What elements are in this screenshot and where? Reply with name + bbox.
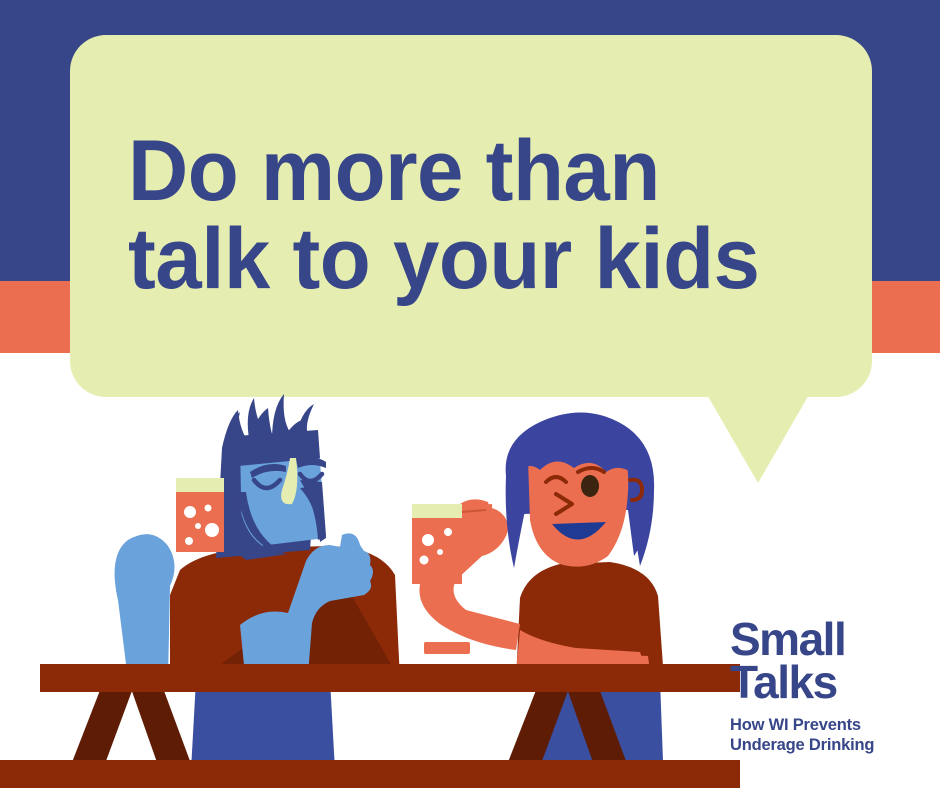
table-item-1 — [424, 642, 470, 654]
logo-tagline: How WI Prevents Underage Drinking — [730, 716, 930, 755]
glass-left — [176, 478, 224, 552]
logo-tagline-line-2: Underage Drinking — [730, 736, 930, 755]
brand-logo: Small Talks How WI Prevents Underage Dri… — [730, 618, 930, 755]
logo-word-line-2: Talks — [730, 661, 930, 704]
campaign-poster: Do more than talk to your kids — [0, 0, 940, 788]
headline-line-1: Do more than — [128, 128, 793, 216]
logo-tagline-line-1: How WI Prevents — [730, 716, 930, 735]
headline: Do more than talk to your kids — [70, 35, 872, 397]
adult-figure — [115, 394, 400, 686]
headline-line-2: talk to your kids — [128, 216, 793, 304]
logo-word-line-1: Small — [730, 618, 930, 661]
glass-right — [412, 504, 462, 584]
illustration — [0, 380, 740, 788]
table-item-2 — [526, 644, 550, 654]
